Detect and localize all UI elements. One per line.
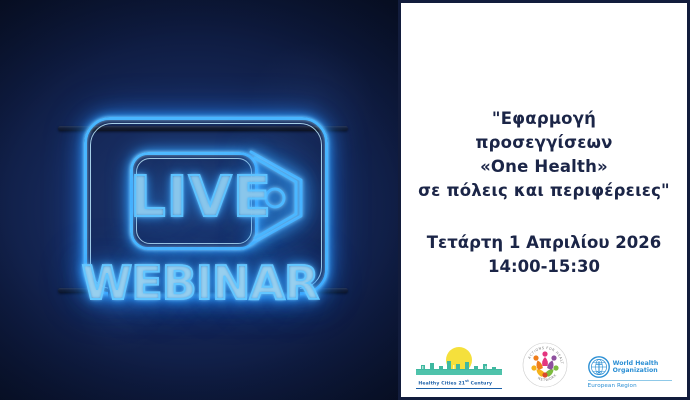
title-line-3: «One Health»: [406, 155, 682, 179]
who-emblem-icon: [588, 356, 610, 378]
who-top-row: World Health Organization: [588, 356, 672, 378]
network-circle-icon: ACTIONS FOR HEALTH NETWORK: [521, 341, 569, 389]
who-name: World Health Organization: [613, 360, 659, 375]
healthy-cities-mark-icon: [416, 345, 502, 379]
logo-row: Healthy Cities 21st Century: [401, 341, 687, 389]
who-europe-logo: World Health Organization European Regio…: [588, 356, 672, 389]
webinar-neon-text: WEBINAR: [0, 256, 400, 310]
who-region-label: European Region: [588, 383, 672, 389]
live-neon-text: LIVE: [130, 159, 252, 237]
hc-label-main: Healthy Cities 21: [418, 382, 465, 387]
who-divider: [588, 380, 672, 381]
webinar-title: "Εφαρμογή προσεγγίσεων «One Health» σε π…: [406, 107, 682, 203]
healthy-cities-label: Healthy Cities 21st Century: [416, 379, 502, 389]
who-name-line-2: Organization: [613, 367, 659, 374]
title-line-2: προσεγγίσεων: [406, 131, 682, 155]
healthy-cities-logo: Healthy Cities 21st Century: [416, 345, 502, 389]
who-name-line-1: World Health: [613, 360, 659, 367]
neon-sign-panel: LIVE WEBINAR: [0, 0, 400, 400]
info-card: "Εφαρμογή προσεγγίσεων «One Health» σε π…: [398, 0, 690, 400]
webinar-date: Τετάρτη 1 Απριλίου 2026: [406, 231, 682, 255]
network-logo: ACTIONS FOR HEALTH NETWORK: [521, 341, 569, 389]
title-line-1: "Εφαρμογή: [406, 107, 682, 131]
webinar-announcement-banner: LIVE WEBINAR "Εφαρμογή προσεγγίσεων «One…: [0, 0, 690, 400]
webinar-time: 14:00-15:30: [406, 255, 682, 279]
title-line-4: σε πόλεις και περιφέρειες": [406, 179, 682, 203]
hc-label-tail: Century: [469, 382, 492, 387]
